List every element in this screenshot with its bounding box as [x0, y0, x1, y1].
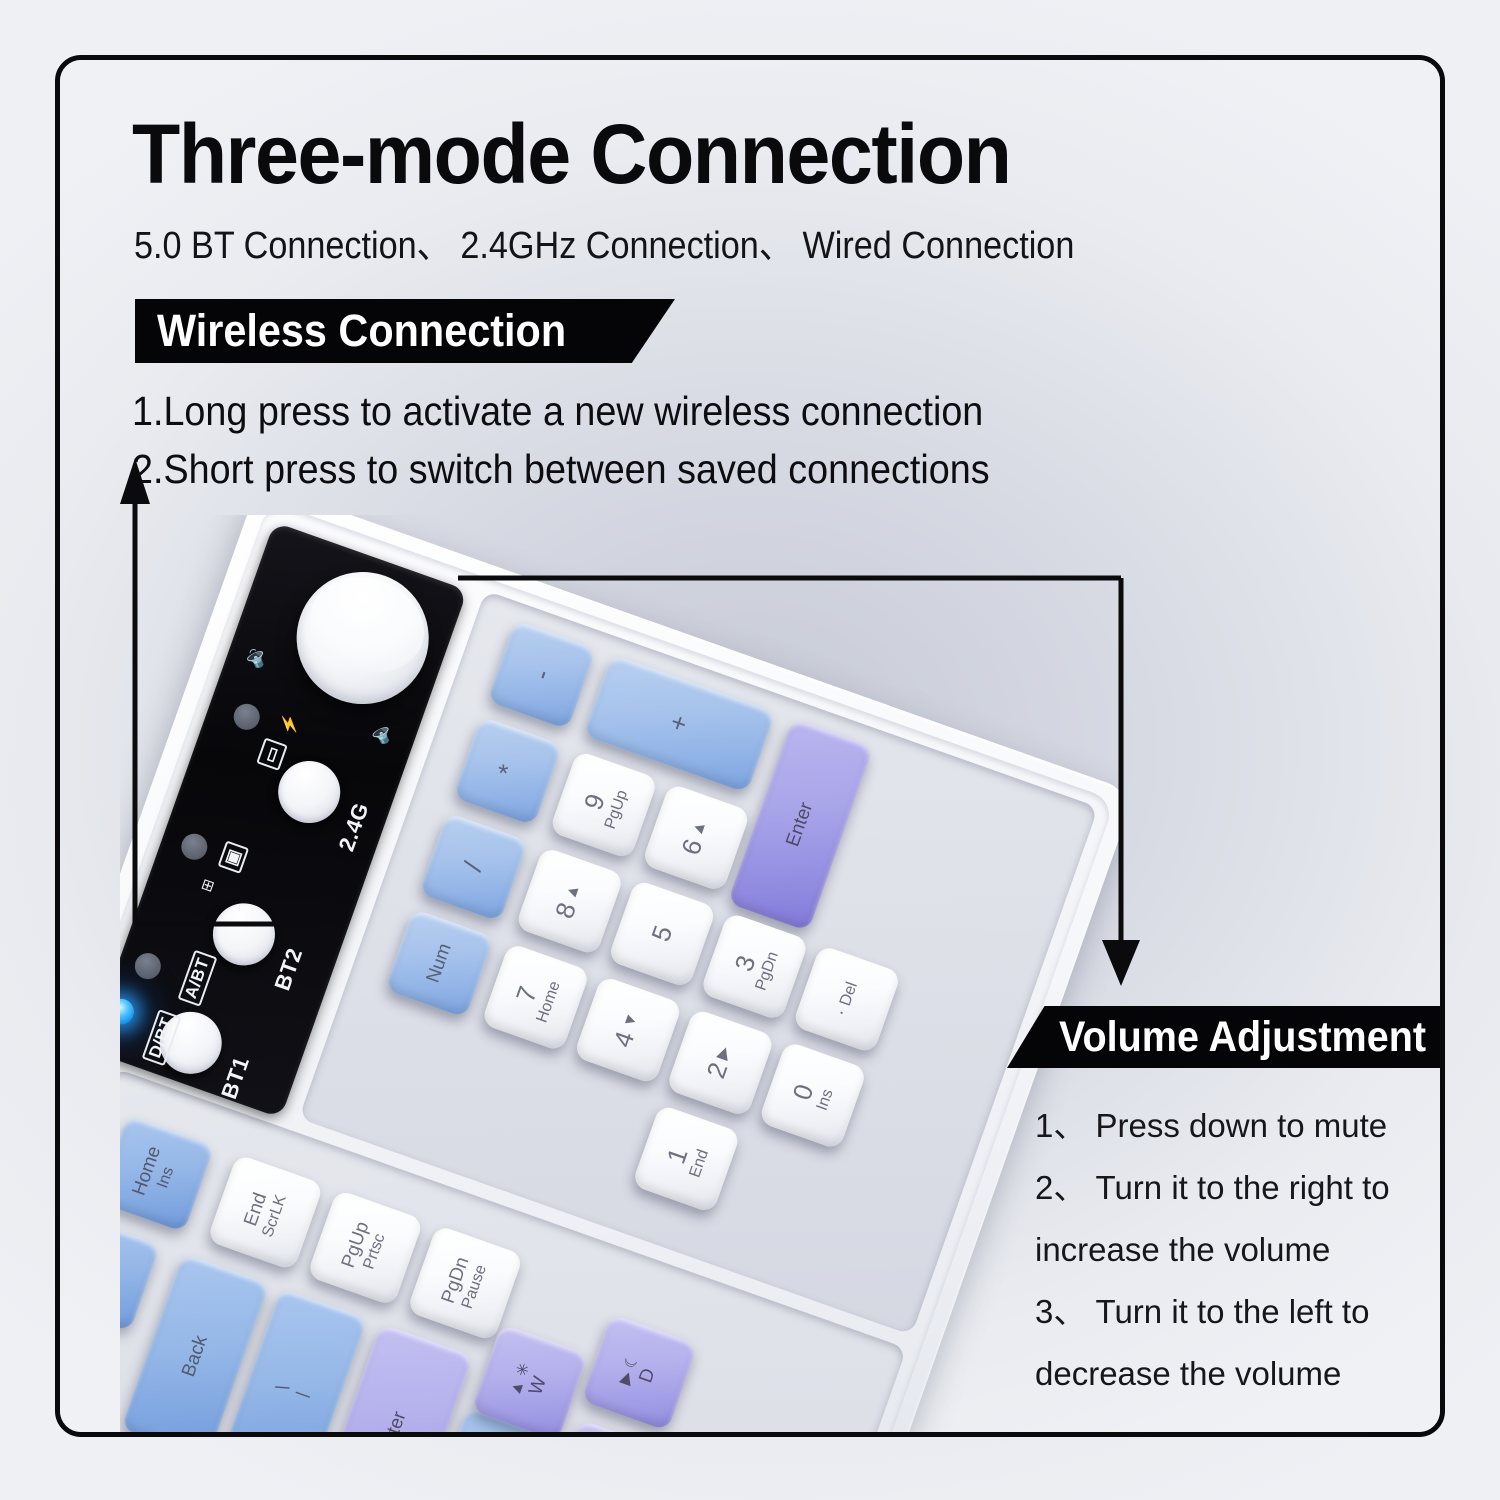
battery-icon: ⚡ — [277, 711, 303, 738]
button-label-24g: 2.4G — [333, 797, 376, 857]
infographic-canvas: 🔉 🔈 ⚡ ▭ 2.4G ▣ ⊞ BT2 A/BT — [0, 0, 1500, 1500]
content-frame: 🔉 🔈 ⚡ ▭ 2.4G ▣ ⊞ BT2 A/BT — [55, 55, 1445, 1437]
volume-step-3: 3、 Turn it to the left to — [1035, 1281, 1445, 1343]
volume-down-icon: 🔉 — [239, 640, 271, 672]
page-subtitle: 5.0 BT Connection、 2.4GHz Connection、 Wi… — [134, 226, 1074, 268]
button-bt2[interactable] — [204, 895, 283, 974]
led-a-bt — [131, 950, 164, 983]
led-label-a-bt: A/BT — [177, 950, 217, 1007]
wireless-banner-label: Wireless Connection — [157, 305, 566, 357]
led-battery — [230, 700, 263, 733]
led-os-mode — [178, 830, 211, 863]
led-label-battery: ▭ — [256, 738, 287, 771]
volume-step-3-cont: decrease the volume — [1035, 1343, 1445, 1405]
volume-adjustment-banner: Volume Adjustment — [1007, 1006, 1445, 1068]
volume-step-2: 2、 Turn it to the right to — [1035, 1157, 1445, 1219]
wireless-step-1: 1.Long press to activate a new wireless … — [132, 388, 983, 435]
page-title: Three-mode Connection — [132, 112, 1010, 196]
led-d-bt-active — [120, 995, 138, 1028]
keyboard-product-photo: 🔉 🔈 ⚡ ▭ 2.4G ▣ ⊞ BT2 A/BT — [120, 515, 1120, 1437]
volume-knob[interactable] — [278, 554, 446, 722]
volume-banner-label: Volume Adjustment — [1059, 1013, 1426, 1062]
led-label-os: ▣ — [218, 841, 249, 874]
volume-steps-list: 1、 Press down to mute 2、 Turn it to the … — [1035, 1095, 1445, 1405]
button-label-bt2: BT2 — [268, 940, 311, 1000]
volume-up-icon: 🔈 — [365, 716, 397, 748]
volume-step-1: 1、 Press down to mute — [1035, 1095, 1445, 1157]
windows-icon: ⊞ — [197, 876, 218, 894]
wireless-connection-banner: Wireless Connection — [135, 299, 675, 363]
button-24g[interactable] — [270, 752, 349, 831]
volume-step-2-cont: increase the volume — [1035, 1219, 1445, 1281]
wireless-step-2: 2.Short press to switch between saved co… — [132, 446, 990, 493]
